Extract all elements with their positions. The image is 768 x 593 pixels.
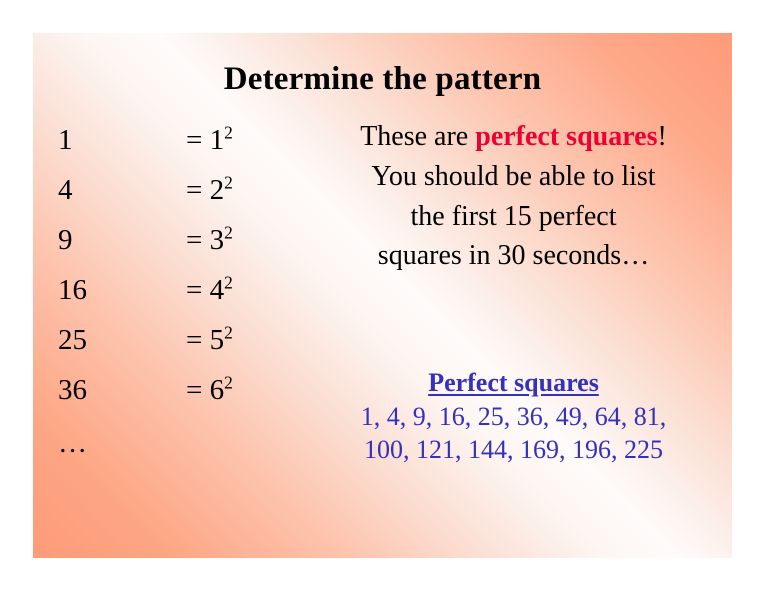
continuation-ellipsis: … bbox=[48, 415, 186, 471]
square-value: 1 bbox=[48, 115, 186, 165]
square-exponent: 2 bbox=[224, 372, 233, 392]
square-exponent: 2 bbox=[224, 172, 233, 192]
square-equation: = 32 bbox=[186, 215, 298, 265]
callout-intro-before: These are bbox=[360, 121, 475, 152]
square-value: 4 bbox=[48, 165, 186, 215]
perfect-squares-list-heading: Perfect squares bbox=[295, 368, 732, 398]
perfect-squares-list-line-1: 1, 4, 9, 16, 25, 36, 49, 64, 81, bbox=[295, 400, 732, 433]
square-base: 6 bbox=[210, 374, 225, 406]
perfect-squares-list-line-2: 100, 121, 144, 169, 196, 225 bbox=[295, 433, 732, 466]
square-value: 16 bbox=[48, 265, 186, 315]
square-base: 2 bbox=[210, 174, 225, 206]
equals-sign: = bbox=[186, 124, 202, 156]
callout-body-line-2: the first 15 perfect bbox=[295, 197, 732, 237]
table-row: 1 = 12 bbox=[48, 115, 298, 165]
equals-sign: = bbox=[186, 174, 202, 206]
square-base: 4 bbox=[210, 274, 225, 306]
square-equation: = 62 bbox=[186, 365, 298, 415]
squares-equation-table: 1 = 12 4 = 22 9 = 32 16 = 42 25 = 52 bbox=[48, 115, 298, 471]
equals-sign: = bbox=[186, 374, 202, 406]
square-equation: = 42 bbox=[186, 265, 298, 315]
table-row: 4 = 22 bbox=[48, 165, 298, 215]
callout-body-line-1: You should be able to list bbox=[295, 157, 732, 197]
table-row: 16 = 42 bbox=[48, 265, 298, 315]
square-base: 1 bbox=[210, 124, 225, 156]
square-value: 9 bbox=[48, 215, 186, 265]
equals-sign: = bbox=[186, 224, 202, 256]
callout-intro-line: These are perfect squares! bbox=[295, 117, 732, 157]
equals-sign: = bbox=[186, 274, 202, 306]
perfect-squares-list: Perfect squares 1, 4, 9, 16, 25, 36, 49,… bbox=[295, 368, 732, 467]
table-row: 36 = 62 bbox=[48, 365, 298, 415]
square-exponent: 2 bbox=[224, 222, 233, 242]
page-title: Determine the pattern bbox=[33, 61, 732, 98]
table-row-continuation: … bbox=[48, 415, 298, 471]
square-value: 36 bbox=[48, 365, 186, 415]
square-exponent: 2 bbox=[224, 272, 233, 292]
square-equation: = 22 bbox=[186, 165, 298, 215]
square-equation: = 52 bbox=[186, 315, 298, 365]
perfect-squares-highlight: perfect squares bbox=[475, 121, 657, 152]
callout-intro-after: ! bbox=[657, 121, 666, 152]
square-value: 25 bbox=[48, 315, 186, 365]
callout-body-line-3: squares in 30 seconds… bbox=[295, 236, 732, 276]
equals-sign: = bbox=[186, 324, 202, 356]
slide-canvas: Determine the pattern 1 = 12 4 = 22 9 = … bbox=[33, 33, 732, 558]
square-base: 5 bbox=[210, 324, 225, 356]
square-exponent: 2 bbox=[224, 122, 233, 142]
table-row: 9 = 32 bbox=[48, 215, 298, 265]
continuation-spacer bbox=[186, 415, 298, 471]
table-row: 25 = 52 bbox=[48, 315, 298, 365]
square-equation: = 12 bbox=[186, 115, 298, 165]
slide-frame: Determine the pattern 1 = 12 4 = 22 9 = … bbox=[0, 0, 768, 593]
square-exponent: 2 bbox=[224, 322, 233, 342]
square-base: 3 bbox=[210, 224, 225, 256]
callout-text: These are perfect squares! You should be… bbox=[295, 117, 732, 276]
